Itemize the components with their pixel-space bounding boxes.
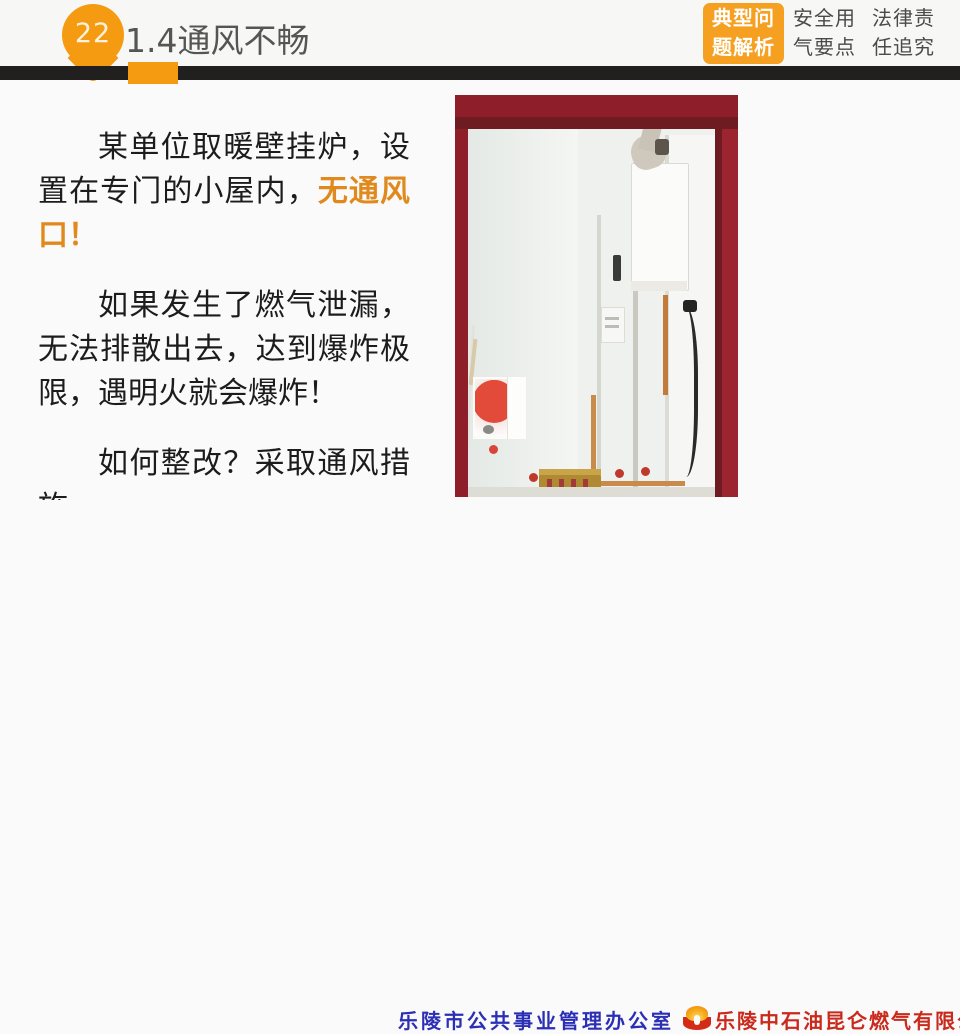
- page-number-label: 22: [62, 4, 124, 62]
- tab-legal-liability-line1: 法律责: [872, 4, 935, 33]
- photo-cable-connector: [683, 300, 697, 312]
- photo-pipe-middle: [633, 291, 638, 497]
- photo-red-valve-handle-2: [615, 469, 624, 478]
- petrochina-logo-notch: [694, 1015, 700, 1025]
- photo-door-frame-right-inner: [715, 121, 722, 497]
- photo-red-valve-handle-1: [529, 473, 538, 482]
- footer-right-org: 乐陵中石油昆仑燃气有限公司: [715, 1005, 960, 1034]
- photo-poster-socket: [483, 425, 494, 434]
- page-title: 1.4通风不畅: [125, 14, 309, 62]
- photo-black-cable: [668, 307, 698, 477]
- photo-door-frame-right: [722, 95, 738, 497]
- header-tabs: 典型问 题解析 安全用 气要点 法律责 任追究: [703, 3, 942, 65]
- tab-case-analysis-line1: 典型问: [712, 4, 775, 33]
- tab-legal-liability[interactable]: 法律责 任追究: [863, 3, 942, 64]
- tab-safety-points-line1: 安全用: [793, 4, 856, 33]
- photo-boiler-base: [631, 281, 687, 291]
- slide-root: 22 1.4通风不畅 典型问 题解析 安全用 气要点 法律责 任追究 某单位取暖…: [0, 0, 960, 540]
- photo-wall-hung-boiler: [631, 163, 689, 291]
- photo-wall-shading: [468, 129, 578, 497]
- pin-foot-accent: [128, 62, 178, 84]
- photo-wall-box: [507, 377, 526, 439]
- photo-control-box-line2: [605, 325, 619, 328]
- tab-case-analysis-line2: 题解析: [712, 33, 775, 62]
- content-text-block: 某单位取暖壁挂炉，设置在专门的小屋内，无通风口！ 如果发生了燃气泄漏，无法排散出…: [38, 126, 410, 530]
- photo-flue-shadow: [655, 139, 669, 155]
- tab-legal-liability-line2: 任追究: [872, 33, 935, 62]
- photo-poster-red-dot: [489, 445, 498, 454]
- photo-floor-shadow: [468, 487, 715, 497]
- boiler-room-photo: [455, 95, 738, 497]
- tab-case-analysis[interactable]: 典型问 题解析: [703, 3, 784, 64]
- slide-header: 22 1.4通风不畅 典型问 题解析 安全用 气要点 法律责 任追究: [0, 0, 960, 66]
- photo-red-valve-handle-3: [641, 467, 650, 476]
- petrochina-logo: [683, 1006, 711, 1031]
- slide-footer: 乐陵市公共事业管理办公室 乐陵中石油昆仑燃气有限公司: [0, 500, 960, 540]
- photo-black-valve: [613, 255, 621, 281]
- footer-left-org: 乐陵市公共事业管理办公室: [398, 1005, 674, 1034]
- tab-safety-points-line2: 气要点: [793, 33, 856, 62]
- photo-control-box-line1: [605, 317, 619, 320]
- paragraph-1: 某单位取暖壁挂炉，设置在专门的小屋内，无通风口！: [38, 126, 410, 258]
- paragraph-2: 如果发生了燃气泄漏，无法排散出去，达到爆炸极限，遇明火就会爆炸！: [38, 284, 410, 416]
- photo-door-frame-left: [455, 95, 468, 497]
- paragraph-2-text: 如果发生了燃气泄漏，无法排散出去，达到爆炸极限，遇明火就会爆炸！: [38, 288, 410, 411]
- photo-door-frame-top-inner: [455, 117, 738, 129]
- tab-safety-points[interactable]: 安全用 气要点: [784, 3, 863, 64]
- photo-pipe-left: [597, 215, 601, 497]
